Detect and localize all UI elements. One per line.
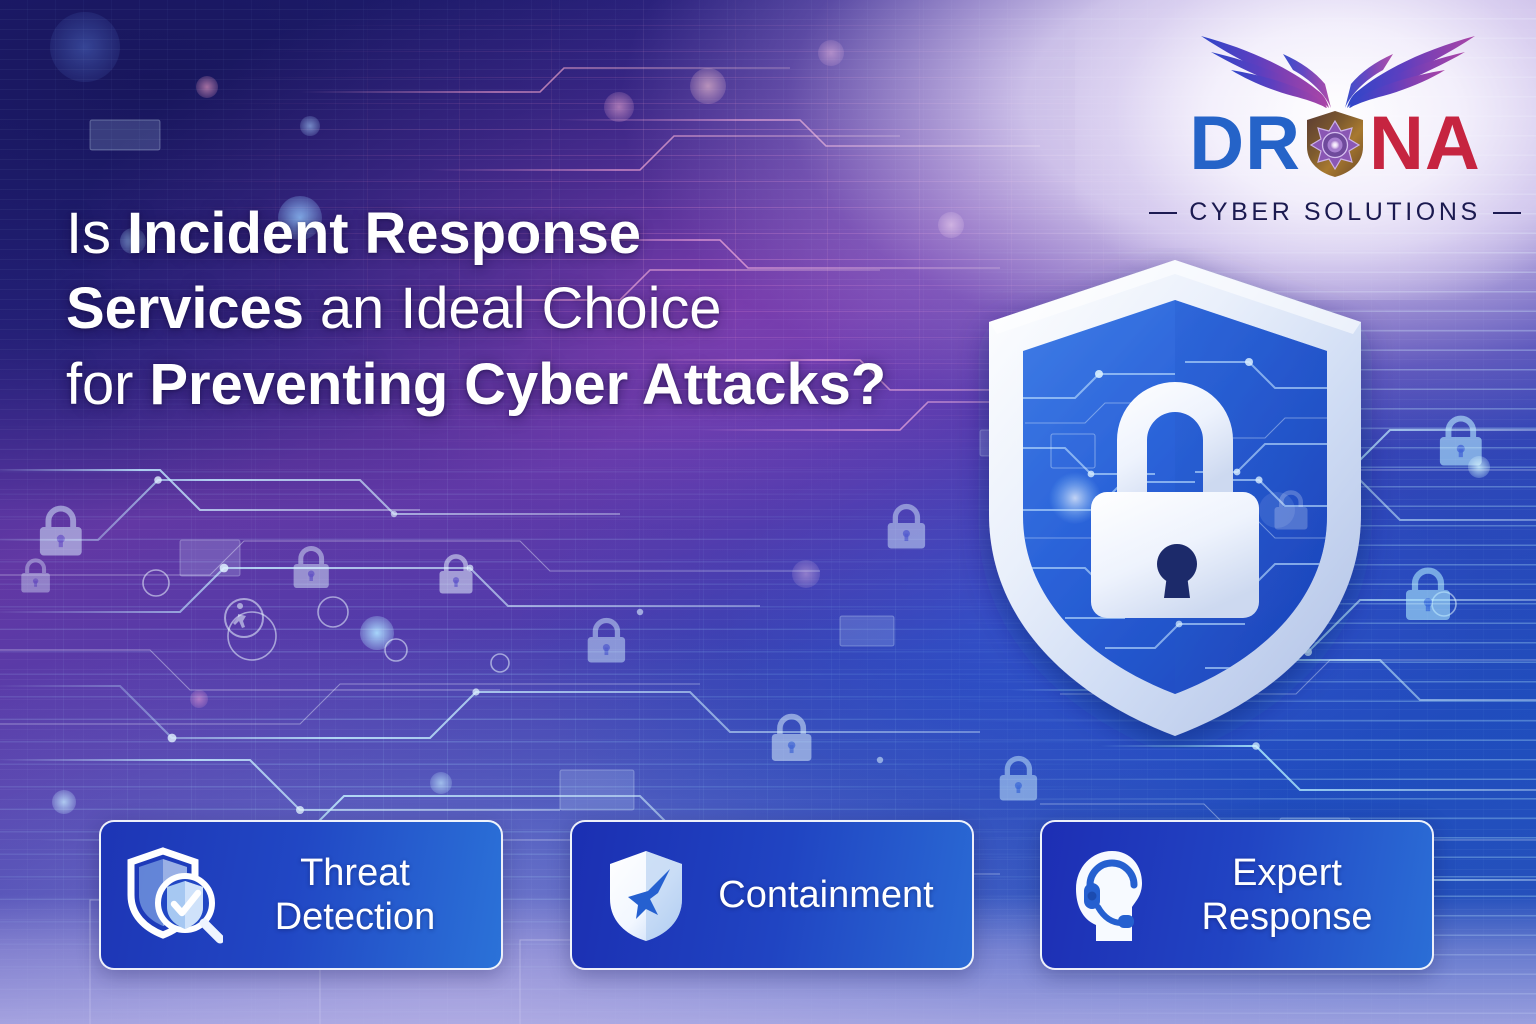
shield-magnifier-check-icon bbox=[127, 845, 223, 945]
logo-word-na: NA bbox=[1369, 101, 1481, 186]
logo-tagline: CYBER SOLUTIONS bbox=[1189, 198, 1481, 227]
badge-label-containment: Containment bbox=[694, 873, 972, 917]
feature-badge-row: Threat Detection Containment bbox=[0, 820, 1536, 970]
badge-expert-response[interactable]: Expert Response bbox=[1040, 820, 1434, 970]
headline-line2-regular: an Ideal Choice bbox=[304, 276, 722, 341]
headline-line-3: for Preventing Cyber Attacks? bbox=[66, 347, 966, 422]
tagline-dash-right bbox=[1493, 212, 1521, 214]
badge1-line1: Threat bbox=[300, 852, 410, 894]
badge-containment[interactable]: Containment bbox=[570, 820, 974, 970]
badge-threat-detection[interactable]: Threat Detection bbox=[99, 820, 503, 970]
badge3-line1: Expert bbox=[1232, 852, 1342, 894]
headline: Is Incident Response Services an Ideal C… bbox=[66, 196, 966, 422]
badge-label-threat-detection: Threat Detection bbox=[223, 851, 501, 939]
headset-agent-icon bbox=[1068, 845, 1156, 945]
logo-tagline-row: CYBER SOLUTIONS bbox=[1125, 198, 1536, 227]
shield-star-icon bbox=[598, 845, 694, 945]
headline-line1-bold: Incident Response bbox=[127, 201, 641, 266]
security-shield-with-padlock bbox=[955, 248, 1395, 748]
tagline-dash-left bbox=[1149, 212, 1177, 214]
drona-cyber-solutions-logo[interactable]: DR bbox=[1125, 20, 1536, 240]
headline-line-2: Services an Ideal Choice bbox=[66, 271, 966, 346]
badge1-line2: Detection bbox=[223, 895, 487, 939]
badge-label-expert-response: Expert Response bbox=[1156, 851, 1432, 939]
badge3-line2: Response bbox=[1156, 895, 1418, 939]
badge2-line1: Containment bbox=[718, 874, 933, 916]
headline-line2-bold: Services bbox=[66, 276, 304, 341]
headline-line3-regular: for bbox=[66, 352, 149, 417]
drona-shield-mandala-emblem-icon bbox=[1302, 109, 1368, 179]
headline-line-1: Is Incident Response bbox=[66, 196, 966, 271]
logo-wordmark: DR bbox=[1125, 106, 1536, 182]
headline-line3-bold: Preventing Cyber Attacks? bbox=[149, 352, 886, 417]
headline-line1-regular: Is bbox=[66, 201, 127, 266]
logo-word-dr: DR bbox=[1189, 101, 1301, 186]
cybersecurity-promo-banner: Is Incident Response Services an Ideal C… bbox=[0, 0, 1536, 1024]
